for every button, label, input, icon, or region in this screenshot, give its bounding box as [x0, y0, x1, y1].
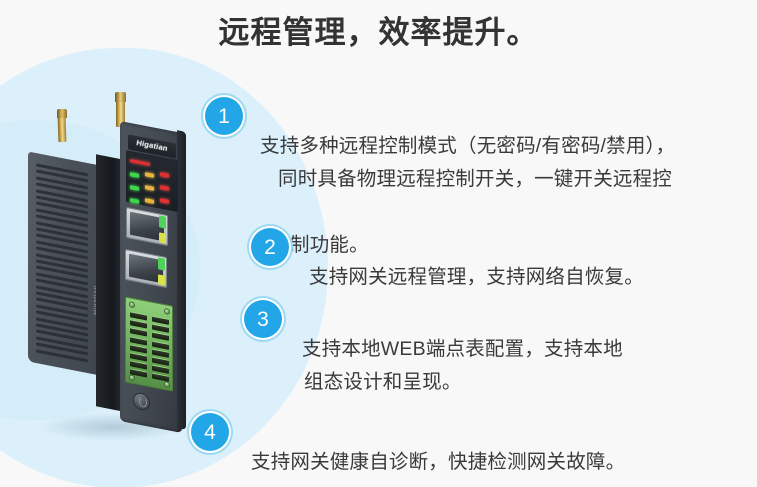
feature-1-line-2: 同时具备物理远程控制开关，一键开关远程控 [260, 163, 675, 196]
feature-3-line-1: 支持本地WEB端点表配置，支持本地 [302, 338, 623, 360]
page-title: 远程管理，效率提升。 [0, 10, 757, 56]
feature-text-4: 支持网关健康自诊断，快捷检测网关故障。 [251, 413, 625, 479]
terminal-block [125, 296, 173, 391]
terminal-screw-slot [130, 328, 147, 337]
feature-badge-4: 4 [191, 413, 229, 451]
gateway-device-image: Higatian Higatian [20, 95, 210, 445]
terminal-screw [164, 381, 170, 388]
promo-banner: 远程管理，效率提升。 Higatian Higatian [0, 0, 757, 487]
antenna-tip-right [115, 92, 126, 102]
feature-3-line-2: 组态设计和呈现。 [302, 366, 623, 399]
terminal-screw [164, 308, 170, 315]
feature-4-line-1: 支持网关健康自诊断，快捷检测网关故障。 [251, 451, 625, 473]
feature-badge-2: 2 [251, 228, 289, 266]
antenna-tip-left [57, 109, 67, 118]
device-vent-group [36, 163, 94, 369]
feature-item-2: 2 支持网关远程管理，支持网络自恢复。 [251, 228, 644, 294]
ethernet-port-2-act-led [158, 274, 165, 285]
terminal-screw [129, 301, 135, 308]
terminal-screw-slot [152, 373, 169, 382]
feature-badge-3: 3 [244, 300, 282, 338]
antenna-connector-left [58, 116, 67, 142]
feature-item-4: 4 支持网关健康自诊断，快捷检测网关故障。 [191, 413, 625, 479]
feature-text-2: 支持网关远程管理，支持网络自恢复。 [309, 228, 644, 294]
ethernet-port-2-link-led [158, 257, 165, 270]
ethernet-port-1-link-led [159, 215, 166, 228]
device-right-edge [177, 130, 186, 430]
feature-badge-1: 1 [205, 97, 243, 135]
terminal-screw-slot [152, 332, 169, 341]
feature-1-line-1: 支持多种远程控制模式（无密码/有密码/禁用）， [260, 135, 675, 157]
feature-2-line-1: 支持网关远程管理，支持网络自恢复。 [309, 266, 644, 288]
ethernet-port-1-act-led [159, 232, 166, 243]
